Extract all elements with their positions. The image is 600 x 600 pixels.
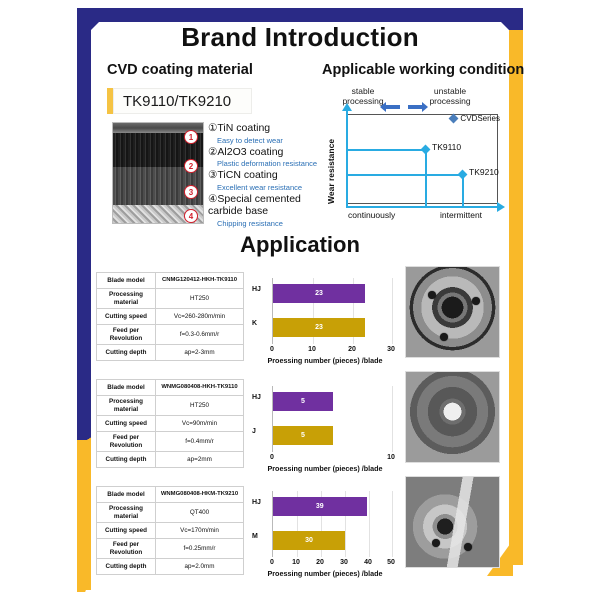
photo-2-content (406, 372, 499, 462)
tk9210-horizontal-guide (346, 174, 463, 176)
bar-chart-3-plot: 39 30 (272, 491, 392, 557)
spec-key: Blade model (97, 380, 156, 396)
unstable-line-2: processing (429, 96, 470, 106)
x-axis-right-label: intermittent (440, 210, 482, 220)
cvd-section-title: CVD coating material (107, 62, 253, 78)
table-row: Cutting speed Vc=90m/min (97, 416, 244, 432)
bar-chart-2-xlabel: Proessing number (pieces) /blade (250, 464, 400, 473)
spec-table-1: Blade model CNMG120412-HKH-TK9110 Proces… (96, 272, 244, 361)
table-row: Cutting depth ap=2.0mm (97, 559, 244, 575)
bar-category-1: HJ (252, 286, 261, 293)
micrograph-marker-2: 2 (184, 159, 198, 173)
chart-y-axis (346, 110, 348, 208)
spec-value: ap=2-3mm (156, 345, 244, 361)
x-tick: 30 (387, 346, 395, 353)
spec-key: Cutting depth (97, 452, 156, 468)
bar-hj: 5 (273, 392, 333, 411)
table-row: Cutting speed Vc=260-280m/min (97, 309, 244, 325)
micrograph-marker-3: 3 (184, 185, 198, 199)
x-tick: 10 (308, 346, 316, 353)
photo-3-bolt-hole (464, 543, 472, 551)
bar-chart-1-plot: 23 23 (272, 278, 392, 344)
bar-chart-3-xlabel: Proessing number (pieces) /blade (250, 569, 400, 578)
application-title: Application (77, 232, 523, 258)
x-tick: 40 (364, 559, 372, 566)
coating-layer-2-title: ②Al2O3 coating (208, 146, 320, 159)
photo-1-bolt-hole (428, 291, 436, 299)
bar-category-2: M (252, 533, 258, 540)
photo-3-bolt-hole (432, 539, 440, 547)
spec-value: QT400 (156, 503, 244, 523)
spec-key: Processing material (97, 289, 156, 309)
application-photo-3 (405, 476, 500, 568)
coating-layer-2-desc: Plastic deformation resistance (208, 158, 320, 169)
bar-hj: 39 (273, 497, 367, 516)
tk9110-point-label: TK9110 (432, 142, 461, 152)
photo-1-content (406, 267, 499, 357)
spec-value: f=0.4mm/r (156, 432, 244, 452)
legend-label: CVDSeries (460, 114, 500, 123)
spec-key: Blade model (97, 487, 156, 503)
coating-layer-3-title: ③TiCN coating (208, 169, 320, 182)
chart-x-axis (346, 206, 498, 208)
spec-key: Cutting speed (97, 416, 156, 432)
x-tick: 10 (387, 454, 395, 461)
bar-chart-2-plot: 5 5 (272, 386, 392, 452)
table-row: Blade model CNMG120412-HKH-TK9110 (97, 273, 244, 289)
direction-arrows (380, 100, 428, 112)
table-row: Processing material HT250 (97, 289, 244, 309)
gridline (392, 491, 393, 557)
spec-value: ap=2.0mm (156, 559, 244, 575)
spec-key: Cutting speed (97, 309, 156, 325)
tk9110-horizontal-guide (346, 149, 426, 151)
spec-key: Feed per Revolution (97, 539, 156, 559)
badge-label: TK9110/TK9210 (113, 88, 252, 114)
coating-layer-1-desc: Easy to detect wear (208, 135, 320, 146)
x-tick: 0 (270, 346, 274, 353)
bar-chart-3: 39 30 HJ M 0 10 20 30 40 50 Proessing nu… (250, 489, 400, 579)
table-row: Cutting speed Vc=170m/min (97, 523, 244, 539)
spec-key: Feed per Revolution (97, 325, 156, 345)
x-tick: 30 (340, 559, 348, 566)
gridline (369, 491, 370, 557)
spec-key: Cutting depth (97, 559, 156, 575)
spec-table-3: Blade model WNMG080408-HKM-TK9210 Proces… (96, 486, 244, 575)
x-tick: 20 (316, 559, 324, 566)
spec-value: HT250 (156, 289, 244, 309)
spec-table-2: Blade model WNMG080408-HKH-TK9110 Proces… (96, 379, 244, 468)
spec-value: Vc=170m/min (156, 523, 244, 539)
coating-layer-4-title-cont: carbide base (208, 205, 320, 218)
x-tick: 20 (348, 346, 356, 353)
stable-line-1: stable (352, 86, 375, 96)
unstable-processing-label: unstable processing (422, 86, 478, 106)
table-row: Blade model WNMG080408-HKM-TK9210 (97, 487, 244, 503)
chart-legend: CVDSeries (450, 114, 500, 123)
application-photo-1 (405, 266, 500, 358)
bar-m: 30 (273, 531, 345, 550)
photo-1-bolt-hole (440, 333, 448, 341)
coating-layer-legend: ①TiN coating Easy to detect wear ②Al2O3 … (208, 122, 320, 229)
spec-value: HT250 (156, 396, 244, 416)
spec-value: f=0.25mm/r (156, 539, 244, 559)
coating-layer-4-desc: Chipping resistance (208, 218, 320, 229)
bar-chart-1: 23 23 HJ K 0 10 20 30 Proessing number (… (250, 276, 400, 366)
bar-chart-1-xlabel: Proessing number (pieces) /blade (250, 356, 400, 365)
coating-micrograph-image: 1 2 3 4 (112, 122, 204, 224)
application-photo-2 (405, 371, 500, 463)
table-row: Cutting depth ap=2mm (97, 452, 244, 468)
spec-key: Processing material (97, 503, 156, 523)
unstable-line-1: unstable (434, 86, 466, 96)
tk9210-point-label: TK9210 (469, 167, 499, 177)
table-row: Processing material HT250 (97, 396, 244, 416)
coating-layer-3-desc: Excellent wear resistance (208, 182, 320, 193)
x-axis-left-label: continuously (348, 210, 395, 220)
working-condition-section-title: Applicable working condition (322, 62, 524, 78)
bar-category-2: K (252, 320, 257, 327)
tk9110-vertical-guide (425, 149, 427, 207)
spec-value: WNMG080408-HKH-TK9110 (156, 380, 244, 396)
table-row: Processing material QT400 (97, 503, 244, 523)
gridline (392, 278, 393, 344)
frame-left-blue-bar (77, 8, 91, 448)
material-badge: TK9110/TK9210 (107, 88, 252, 114)
gridline (392, 386, 393, 452)
arrow-left-right-icon (380, 101, 428, 113)
photo-3-content (406, 477, 499, 567)
x-tick: 10 (292, 559, 300, 566)
bar-hj: 23 (273, 284, 365, 303)
spec-value: CNMG120412-HKH-TK9110 (156, 273, 244, 289)
spec-value: Vc=90m/min (156, 416, 244, 432)
photo-1-bolt-hole (472, 297, 480, 305)
slide-page: Brand Introduction CVD coating material … (0, 0, 600, 600)
spec-key: Blade model (97, 273, 156, 289)
spec-key: Cutting speed (97, 523, 156, 539)
x-tick: 0 (270, 454, 274, 461)
frame-top-bar (77, 8, 523, 22)
micrograph-marker-1: 1 (184, 130, 198, 144)
spec-value: WNMG080408-HKM-TK9210 (156, 487, 244, 503)
table-row: Feed per Revolution f=0.4mm/r (97, 432, 244, 452)
table-row: Feed per Revolution f=0.3-0.6mm/r (97, 325, 244, 345)
spec-value: Vc=260-280m/min (156, 309, 244, 325)
bar-k: 23 (273, 318, 365, 337)
table-row: Cutting depth ap=2-3mm (97, 345, 244, 361)
page-title: Brand Introduction (77, 22, 523, 53)
chart-y-axis-label: Wear resistance (326, 139, 336, 204)
bar-chart-2: 5 5 HJ J 0 10 Proessing number (pieces) … (250, 384, 400, 474)
x-tick: 50 (387, 559, 395, 566)
legend-diamond-icon (449, 114, 459, 124)
frame-right-yellow-bar (509, 30, 523, 565)
working-condition-chart: stable processing unstable processing We… (322, 86, 502, 226)
bar-j: 5 (273, 426, 333, 445)
x-tick: 0 (270, 559, 274, 566)
spec-key: Cutting depth (97, 345, 156, 361)
table-row: Feed per Revolution f=0.25mm/r (97, 539, 244, 559)
chart-plot-frame (346, 114, 498, 204)
spec-key: Feed per Revolution (97, 432, 156, 452)
bar-category-1: HJ (252, 499, 261, 506)
spec-value: ap=2mm (156, 452, 244, 468)
bar-category-1: HJ (252, 394, 261, 401)
bar-category-2: J (252, 428, 256, 435)
spec-value: f=0.3-0.6mm/r (156, 325, 244, 345)
coating-layer-1-title: ①TiN coating (208, 122, 320, 135)
table-row: Blade model WNMG080408-HKH-TK9110 (97, 380, 244, 396)
spec-key: Processing material (97, 396, 156, 416)
coating-layer-4-title: ④Special cemented (208, 193, 320, 206)
micrograph-marker-4: 4 (184, 209, 198, 223)
